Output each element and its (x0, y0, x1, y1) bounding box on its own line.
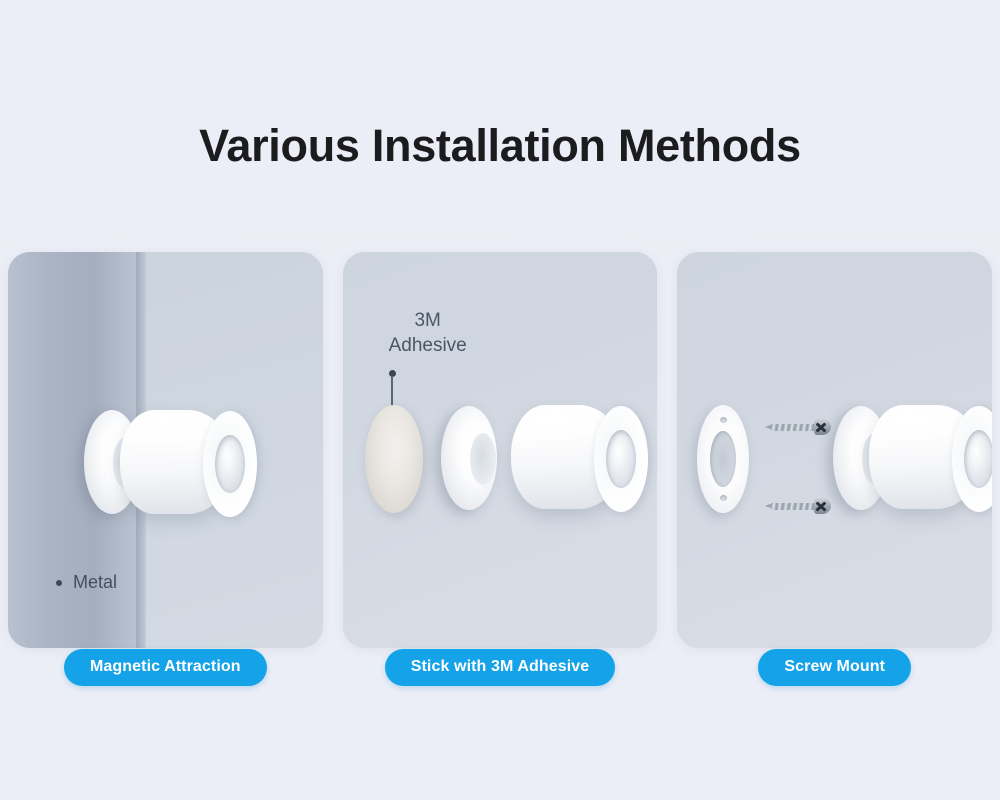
screw-shaft (771, 503, 819, 510)
bracket-center-hole (710, 431, 736, 487)
adhesive-pad-icon (365, 405, 423, 513)
bracket-screw-hole-bottom (720, 495, 727, 501)
screw-icon-bottom (765, 498, 831, 514)
callout-line-2: Adhesive (353, 333, 503, 358)
callout-line-1: 3M (353, 308, 503, 333)
screw-head (814, 419, 831, 435)
method-card-magnetic[interactable]: Metal (8, 252, 323, 648)
sensor-lens-icon (215, 435, 245, 493)
metal-label-text: Metal (73, 572, 117, 593)
bullet-icon (56, 580, 62, 586)
installation-method-cards: Metal 3M Adhesive (8, 252, 992, 648)
method-captions: Magnetic Attraction Stick with 3M Adhesi… (8, 649, 992, 686)
sensor-lens-icon (606, 430, 636, 488)
screw-icon-top (765, 419, 831, 435)
card-scene-adhesive: 3M Adhesive (343, 252, 658, 648)
card-scene-magnetic: Metal (8, 252, 323, 648)
adhesive-callout-label: 3M Adhesive (353, 308, 503, 358)
caption-slot-adhesive: Stick with 3M Adhesive (343, 649, 658, 686)
product-feature-graphic: Various Installation Methods Metal (0, 0, 1000, 800)
metal-surface-label: Metal (56, 572, 117, 593)
mounting-bracket-icon (697, 405, 749, 513)
method-card-adhesive[interactable]: 3M Adhesive (343, 252, 658, 648)
caption-pill-magnetic[interactable]: Magnetic Attraction (64, 649, 267, 686)
screw-head (814, 498, 831, 514)
screw-shaft (771, 424, 819, 431)
caption-slot-screw: Screw Mount (677, 649, 992, 686)
caption-slot-magnetic: Magnetic Attraction (8, 649, 323, 686)
caption-pill-screw[interactable]: Screw Mount (758, 649, 911, 686)
bracket-screw-hole-top (720, 417, 727, 423)
page-title: Various Installation Methods (0, 120, 1000, 172)
caption-pill-adhesive[interactable]: Stick with 3M Adhesive (385, 649, 616, 686)
sensor-lens-icon (964, 430, 992, 488)
magnetic-base-icon (441, 406, 497, 510)
method-card-screw[interactable] (677, 252, 992, 648)
card-scene-screw (677, 252, 992, 648)
